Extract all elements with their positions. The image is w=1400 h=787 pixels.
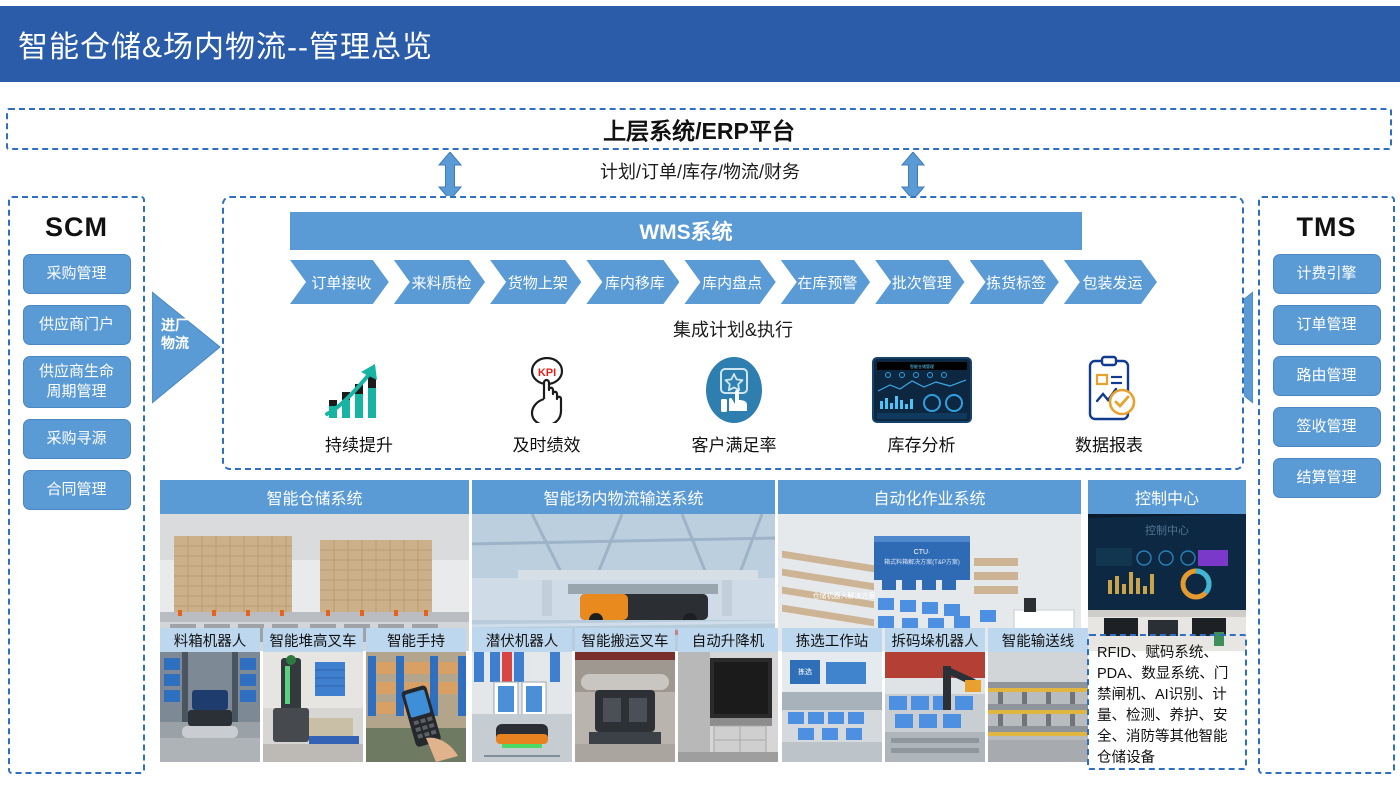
thumbnail-caption: 智能搬运叉车 — [575, 628, 675, 652]
panel-image: 控制中心 — [1088, 514, 1246, 651]
svg-text:箱式料箱解决方案(T&P方案): 箱式料箱解决方案(T&P方案) — [884, 558, 960, 566]
scm-item-contract-management[interactable]: 合同管理 — [23, 470, 131, 510]
thumbnail-image — [575, 652, 675, 762]
thumbnail-picking-workstation[interactable]: 拣选工作站 拣选 — [782, 628, 882, 762]
thumbnail-bin-robot[interactable]: 料箱机器人 — [160, 628, 260, 762]
metric-caption: 库存分析 — [847, 431, 997, 456]
thumbnail-image: 拣选 — [782, 652, 882, 762]
panel-control-center[interactable]: 控制中心 控制中心 — [1088, 480, 1246, 651]
wms-panel: WMS系统 订单接收 来料质检 货物上架 库内移库 库内盘点 在库预警 批次管理… — [222, 196, 1244, 470]
wms-step-putaway[interactable]: 货物上架 — [490, 260, 581, 304]
thumbnail-smart-conveyor-line[interactable]: 智能输送线 — [988, 628, 1088, 762]
thumbnail-palletizing-robot[interactable]: 拆码垛机器人 — [885, 628, 985, 762]
panel-smart-warehouse[interactable]: 智能仓储系统 — [160, 480, 469, 651]
svg-text:仓储机器人解决方案: 仓储机器人解决方案 — [813, 591, 876, 600]
metric-caption: 持续提升 — [284, 431, 434, 456]
inbound-logistics-label: 进厂 物流 — [154, 316, 196, 352]
thumbnail-image — [263, 652, 363, 762]
erp-platform-title: 上层系统/ERP平台 — [603, 112, 795, 146]
scm-item-sourcing[interactable]: 采购寻源 — [23, 419, 131, 459]
svg-text:智能仓储管理: 智能仓储管理 — [910, 363, 934, 369]
thumbnail-image — [678, 652, 778, 762]
wms-step-incoming-qc[interactable]: 来料质检 — [394, 260, 485, 304]
tms-item-order-management[interactable]: 订单管理 — [1273, 305, 1381, 345]
wms-step-internal-transfer[interactable]: 库内移库 — [586, 260, 679, 304]
report-icon — [1034, 354, 1184, 426]
wms-step-stock-alert[interactable]: 在库预警 — [781, 260, 870, 304]
wms-title: WMS系统 — [290, 212, 1082, 250]
thumbnail-caption: 智能手持 — [366, 628, 466, 652]
erp-wms-link-arrow-right — [900, 152, 926, 200]
thumbnail-auto-lift[interactable]: 自动升降机 — [678, 628, 778, 762]
panel-intralogistics-conveying[interactable]: 智能场内物流输送系统 — [472, 480, 775, 651]
kpi-click-icon: KPI — [472, 354, 622, 426]
thumbnail-image — [160, 652, 260, 762]
other-equipment-note: RFID、赋码系统、PDA、数显系统、门禁闸机、AI识别、计量、检测、养护、安全… — [1087, 634, 1247, 770]
panel-title: 控制中心 — [1088, 480, 1246, 514]
wms-step-pick-label[interactable]: 拣货标签 — [970, 260, 1059, 304]
panel-automation-operations[interactable]: 自动化作业系统 CTU· 箱式料箱解决方案(T&P方案) — [778, 480, 1081, 651]
thumbnail-image — [366, 652, 466, 762]
wms-process-flow: 订单接收 来料质检 货物上架 库内移库 库内盘点 在库预警 批次管理 拣货标签 … — [290, 260, 1162, 304]
inbound-logistics-arrow: 进厂 物流 — [152, 290, 222, 405]
metric-caption: 及时绩效 — [472, 431, 622, 456]
panel-title: 智能场内物流输送系统 — [472, 480, 775, 514]
thumbnail-smart-transport-forklift[interactable]: 智能搬运叉车 — [575, 628, 675, 762]
scm-item-supplier-lifecycle[interactable]: 供应商生命 周期管理 — [23, 356, 131, 408]
thumbnail-caption: 拣选工作站 — [782, 628, 882, 652]
thumbnail-caption: 智能输送线 — [988, 628, 1088, 652]
metric-timely-performance[interactable]: KPI 及时绩效 — [472, 354, 622, 456]
svg-text:KPI: KPI — [537, 367, 555, 379]
thumbnail-latent-agv-robot[interactable]: 潜伏机器人 — [472, 628, 572, 762]
svg-text:控制中心: 控制中心 — [1145, 523, 1189, 537]
wms-step-pack-ship[interactable]: 包装发运 — [1064, 260, 1157, 304]
thumbnail-image — [885, 652, 985, 762]
thumbnail-image — [472, 652, 572, 762]
erp-platform-subtitle: 计划/订单/库存/物流/财务 — [0, 158, 1400, 184]
erp-wms-link-arrow-left — [437, 152, 463, 200]
tms-item-settlement-management[interactable]: 结算管理 — [1273, 458, 1381, 498]
wms-step-order-receipt[interactable]: 订单接收 — [290, 260, 389, 304]
panel-title: 自动化作业系统 — [778, 480, 1081, 514]
metric-customer-satisfaction[interactable]: 客户满足率 — [659, 354, 809, 456]
thumbnail-handheld-pda[interactable]: 智能手持 — [366, 628, 466, 762]
page-header: 智能仓储&场内物流--管理总览 — [0, 6, 1400, 82]
thumbnail-caption: 潜伏机器人 — [472, 628, 572, 652]
satisfaction-icon — [659, 354, 809, 426]
wms-step-batch-management[interactable]: 批次管理 — [875, 260, 964, 304]
thumbnail-caption: 自动升降机 — [678, 628, 778, 652]
scm-item-procurement-management[interactable]: 采购管理 — [23, 254, 131, 294]
metric-caption: 客户满足率 — [659, 431, 809, 456]
svg-text:CTU·: CTU· — [914, 549, 931, 556]
thumbnail-caption: 料箱机器人 — [160, 628, 260, 652]
page-title: 智能仓储&场内物流--管理总览 — [18, 22, 433, 66]
scm-item-supplier-portal[interactable]: 供应商门户 — [23, 305, 131, 345]
thumbnail-smart-stacker-forklift[interactable]: 智能堆高叉车 — [263, 628, 363, 762]
metric-data-report[interactable]: 数据报表 — [1034, 354, 1184, 456]
dashboard-icon: 智能仓储管理 — [847, 354, 997, 426]
tms-panel: TMS 计费引擎 订单管理 路由管理 签收管理 结算管理 — [1258, 196, 1395, 774]
panel-title: 智能仓储系统 — [160, 480, 469, 514]
metric-continuous-improvement[interactable]: 持续提升 — [284, 354, 434, 456]
scm-panel: SCM 采购管理 供应商门户 供应商生命 周期管理 采购寻源 合同管理 — [8, 196, 145, 774]
tms-item-receipt-management[interactable]: 签收管理 — [1273, 407, 1381, 447]
metric-caption: 数据报表 — [1034, 431, 1184, 456]
thumbnail-caption: 拆码垛机器人 — [885, 628, 985, 652]
tms-item-routing-management[interactable]: 路由管理 — [1273, 356, 1381, 396]
integration-label: 集成计划&执行 — [224, 316, 1242, 342]
tms-item-billing-engine[interactable]: 计费引擎 — [1273, 254, 1381, 294]
wms-metric-icons: 持续提升 KPI 及时绩效 — [284, 346, 1184, 456]
growth-chart-icon — [284, 354, 434, 426]
thumbnail-caption: 智能堆高叉车 — [263, 628, 363, 652]
thumbnail-image — [988, 652, 1088, 762]
svg-text:拣选: 拣选 — [798, 667, 812, 676]
tms-title: TMS — [1260, 212, 1393, 243]
wms-step-stocktaking[interactable]: 库内盘点 — [684, 260, 775, 304]
erp-platform-band: 上层系统/ERP平台 — [6, 108, 1392, 150]
scm-title: SCM — [10, 212, 143, 243]
metric-inventory-analysis[interactable]: 智能仓储管理 — [847, 354, 997, 456]
